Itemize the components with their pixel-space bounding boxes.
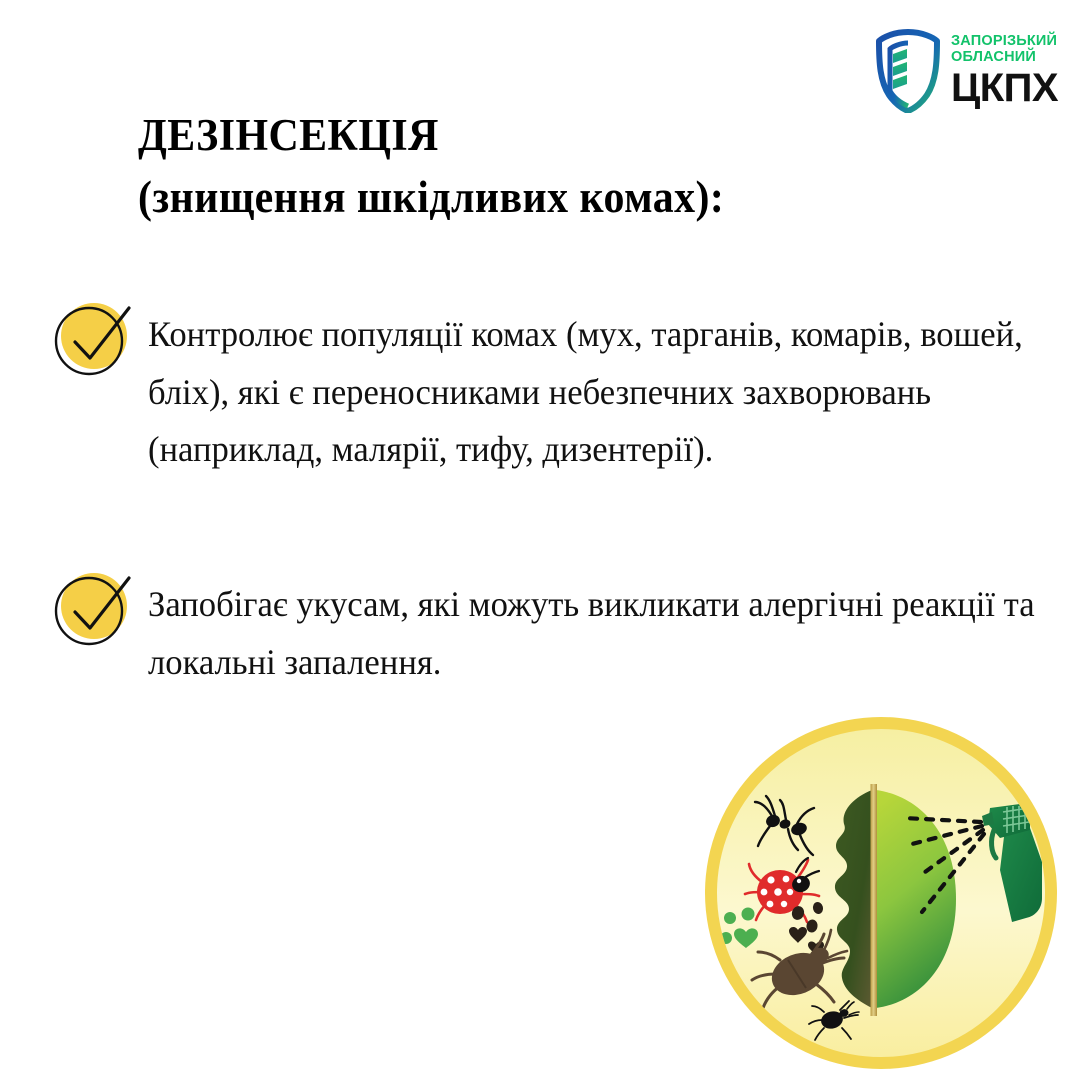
check-circle-icon	[50, 570, 136, 650]
logo-line-1: ЗАПОРІЗЬКИЙ	[951, 34, 1058, 49]
benefit-text: Запобігає укусам, які можуть викликати а…	[148, 570, 1037, 691]
benefit-item: Запобігає укусам, які можуть викликати а…	[50, 570, 1060, 691]
check-circle-icon	[50, 300, 136, 380]
title-line-2: (знищення шкідливих комах):	[138, 166, 910, 228]
benefit-text: Контролює популяції комах (мух, тарганів…	[148, 300, 1037, 479]
organization-logo: ЗАПОРІЗЬКИЙ ОБЛАСНИЙ ЦКПХ	[875, 28, 1055, 114]
title-line-1: ДЕЗІНСЕКЦІЯ	[138, 104, 910, 166]
pest-control-illustration	[700, 712, 1062, 1074]
benefit-item: Контролює популяції комах (мух, тарганів…	[50, 300, 1060, 479]
shield-logo-icon	[875, 29, 941, 113]
poster-page: ЗАПОРІЗЬКИЙ ОБЛАСНИЙ ЦКПХ ДЕЗІНСЕКЦІЯ (з…	[0, 0, 1080, 1080]
logo-abbreviation: ЦКПХ	[951, 68, 1058, 108]
logo-line-2: ОБЛАСНИЙ	[951, 50, 1058, 65]
page-title: ДЕЗІНСЕКЦІЯ (знищення шкідливих комах):	[138, 104, 968, 228]
leaf-stem	[871, 784, 878, 1016]
logo-text-block: ЗАПОРІЗЬКИЙ ОБЛАСНИЙ ЦКПХ	[951, 34, 1058, 108]
